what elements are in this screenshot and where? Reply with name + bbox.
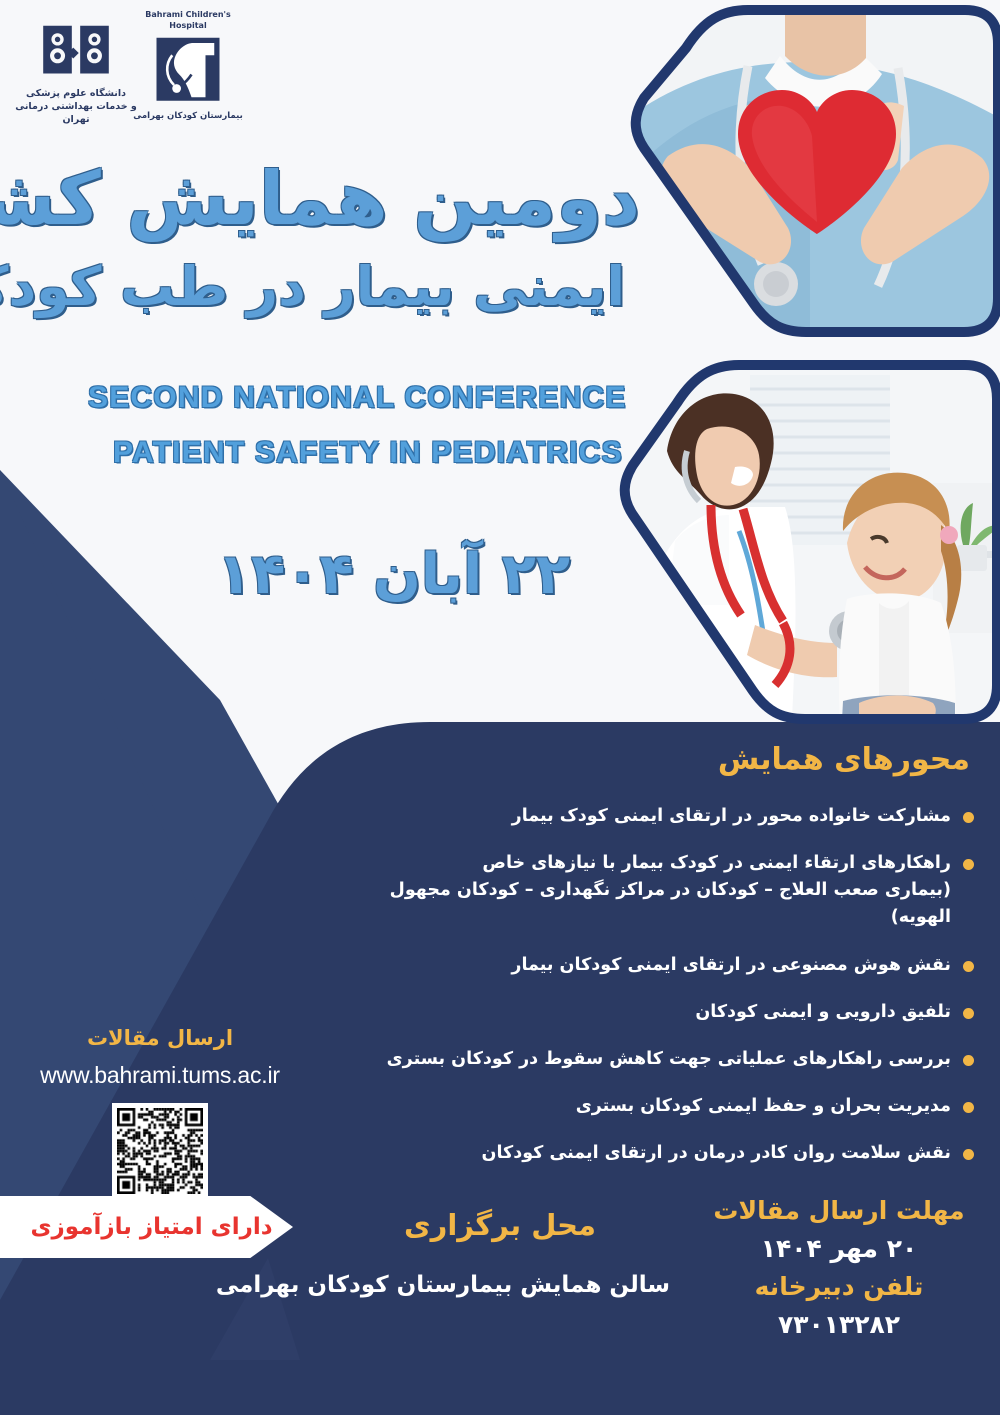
topic-item: نقش سلامت روان کادر درمان در ارتقای ایمن… [324,1140,984,1167]
bahrami-caption-fa: بیمارستان کودکان بهرامی [128,111,248,122]
bahrami-caption-en: Bahrami Children's Hospital [128,10,248,32]
topic-item-label: تلفیق دارویی و ایمنی کودکان [330,999,951,1026]
deadline-heading: مهلت ارسال مقالات [694,1196,984,1225]
bullet-icon [963,1008,974,1019]
topic-item: بررسی راهکارهای عملیاتی جهت کاهش سقوط در… [324,1046,984,1073]
submission-heading: ارسال مقالات [0,1026,320,1050]
topic-item-label: نقش هوش مصنوعی در ارتقای ایمنی کودکان بی… [330,952,951,979]
doctor-examining-child-photo [615,355,1000,740]
conference-title-fa-line2: ایمنی بیمار در طب کودکان [0,258,625,316]
topic-item-label: نقش سلامت روان کادر درمان در ارتقای ایمن… [330,1140,951,1167]
topic-item: نقش هوش مصنوعی در ارتقای ایمنی کودکان بی… [324,952,984,979]
deadline-section: مهلت ارسال مقالات ۲۰ مهر ۱۴۰۴ تلفن دبیرخ… [694,1196,984,1348]
conference-topics-section: محورهای همایش مشارکت خانواده محور در ارت… [324,742,984,1187]
bullet-icon [963,961,974,972]
topics-list: مشارکت خانواده محور در ارتقای ایمنی کودک… [324,803,984,1167]
conference-title-fa-line1: دومین همایش کشوری [0,160,640,240]
doctor-holding-heart-photo [630,0,1000,351]
tums-caption-line2: و خدمات بهداشتی درمانی تهران [12,101,140,127]
secretariat-phone-number: ۷۳۰۱۳۲۸۲ [694,1310,984,1339]
qr-code[interactable] [112,1103,208,1199]
deadline-date: ۲۰ مهر ۱۴۰۴ [694,1234,984,1263]
conference-title-en-line1: SECOND NATIONAL CONFERENCE [88,381,626,415]
venue-section: محل برگزاری سالن همایش بیمارستان کودکان … [330,1208,670,1298]
qr-code-canvas [117,1108,203,1194]
retraining-credit-label: دارای امتیاز بازآموزی [8,1214,272,1240]
topic-item: مشارکت خانواده محور در ارتقای ایمنی کودک… [324,803,984,830]
retraining-credit-badge: دارای امتیاز بازآموزی [0,1196,293,1258]
submission-section: ارسال مقالات www.bahrami.tums.ac.ir [0,1026,320,1199]
conference-poster: دانشگاه علوم پزشکی و خدمات بهداشتی درمان… [0,0,1000,1415]
topic-item-label: مدیریت بحران و حفظ ایمنی کودکان بستری [330,1093,951,1120]
topic-item-sublabel: (بیماری صعب العلاج – کودکان در مراکز نگه… [330,877,951,931]
topic-item-label: بررسی راهکارهای عملیاتی جهت کاهش سقوط در… [330,1046,951,1073]
conference-title-en-line2: PATIENT SAFETY IN PEDIATRICS [113,436,623,470]
bullet-icon [963,812,974,823]
bullet-icon [963,859,974,870]
topic-item: مدیریت بحران و حفظ ایمنی کودکان بستری [324,1093,984,1120]
secretariat-phone-label: تلفن دبیرخانه [694,1272,984,1301]
tums-logo: دانشگاه علوم پزشکی و خدمات بهداشتی درمان… [12,20,140,126]
bullet-icon [963,1149,974,1160]
topics-heading: محورهای همایش [324,742,970,777]
topic-item: تلفیق دارویی و ایمنی کودکان [324,999,984,1026]
tums-caption-line1: دانشگاه علوم پزشکی [12,88,140,101]
event-date: ۲۲ آبان ۱۴۰۴ [217,542,570,607]
topic-item-label: مشارکت خانواده محور در ارتقای ایمنی کودک… [330,803,951,830]
bahrami-hospital-logo: Bahrami Children's Hospital بیمارستان کو… [128,10,248,122]
venue-value: سالن همایش بیمارستان کودکان بهرامی [330,1272,670,1298]
bullet-icon [963,1102,974,1113]
topic-item-label: راهکارهای ارتقاء ایمنی در کودک بیمار با … [330,850,951,931]
bullet-icon [963,1055,974,1066]
venue-heading: محل برگزاری [330,1208,670,1242]
submission-url-link[interactable]: www.bahrami.tums.ac.ir [0,1062,320,1089]
topic-item: راهکارهای ارتقاء ایمنی در کودک بیمار با … [324,850,984,931]
